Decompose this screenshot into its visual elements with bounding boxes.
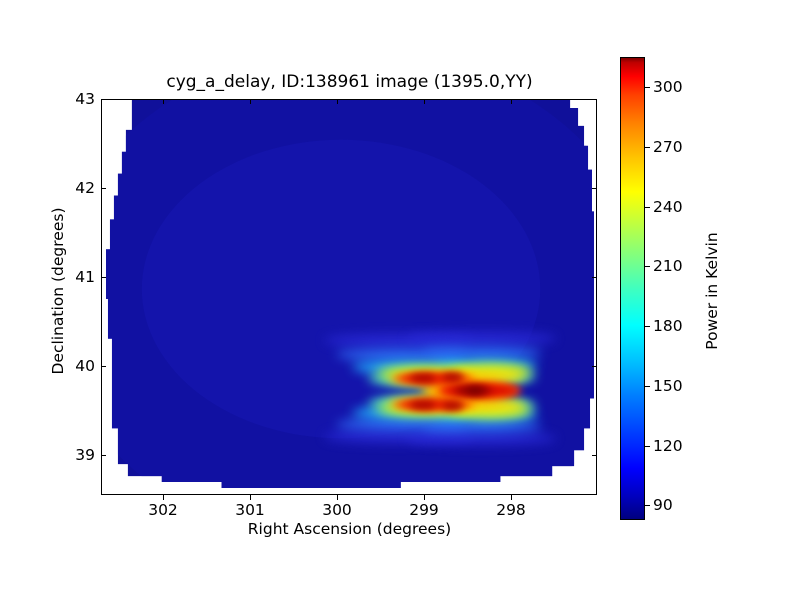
x-axis-label: Right Ascension (degrees) [101,520,598,538]
xtick-label-4: 298 [481,501,541,519]
ytick-42 [101,188,106,189]
image-clip [102,100,596,494]
cbar-tick-270 [645,147,650,148]
colorbar[interactable] [620,57,645,520]
xtick-top-299 [424,99,425,104]
xtick-label-0: 302 [133,501,193,519]
radio-source-cygnus-a [330,326,550,454]
xtick-302 [163,495,164,500]
ytick-right-42 [592,188,597,189]
figure-canvas: cyg_a_delay, ID:138961 image (1395.0,YY) [0,0,800,600]
xtick-top-298 [511,99,512,104]
cbar-label-210: 210 [653,257,683,275]
colorbar-label: Power in Kelvin [703,191,721,391]
xtick-top-300 [337,99,338,104]
cbar-tick-180 [645,326,650,327]
cbar-tick-150 [645,386,650,387]
cbar-label-120: 120 [653,437,683,455]
cbar-tick-90 [645,505,650,506]
xtick-label-2: 300 [307,501,367,519]
ytick-right-40 [592,366,597,367]
cbar-tick-120 [645,446,650,447]
cbar-label-270: 270 [653,138,683,156]
xtick-298 [511,495,512,500]
xtick-300 [337,495,338,500]
cbar-label-150: 150 [653,377,683,395]
xtick-label-1: 301 [220,501,280,519]
xtick-299 [424,495,425,500]
ytick-right-41 [592,277,597,278]
xtick-top-301 [250,99,251,104]
cbar-label-90: 90 [653,496,673,514]
xtick-label-3: 299 [394,501,454,519]
cbar-tick-240 [645,207,650,208]
cbar-label-240: 240 [653,198,683,216]
ytick-right-39 [592,455,597,456]
cbar-tick-300 [645,87,650,88]
cbar-tick-210 [645,266,650,267]
ytick-right-43 [592,99,597,100]
ytick-label-0: 43 [49,90,95,108]
image-axes[interactable] [101,99,597,495]
ytick-39 [101,455,106,456]
y-axis-label: Declination (degrees) [49,191,67,391]
ytick-43 [101,99,106,100]
ytick-41 [101,277,106,278]
ytick-40 [101,366,106,367]
plot-title: cyg_a_delay, ID:138961 image (1395.0,YY) [101,72,598,92]
cbar-label-300: 300 [653,78,683,96]
ytick-label-4: 39 [49,446,95,464]
cbar-label-180: 180 [653,317,683,335]
xtick-301 [250,495,251,500]
xtick-top-302 [163,99,164,104]
